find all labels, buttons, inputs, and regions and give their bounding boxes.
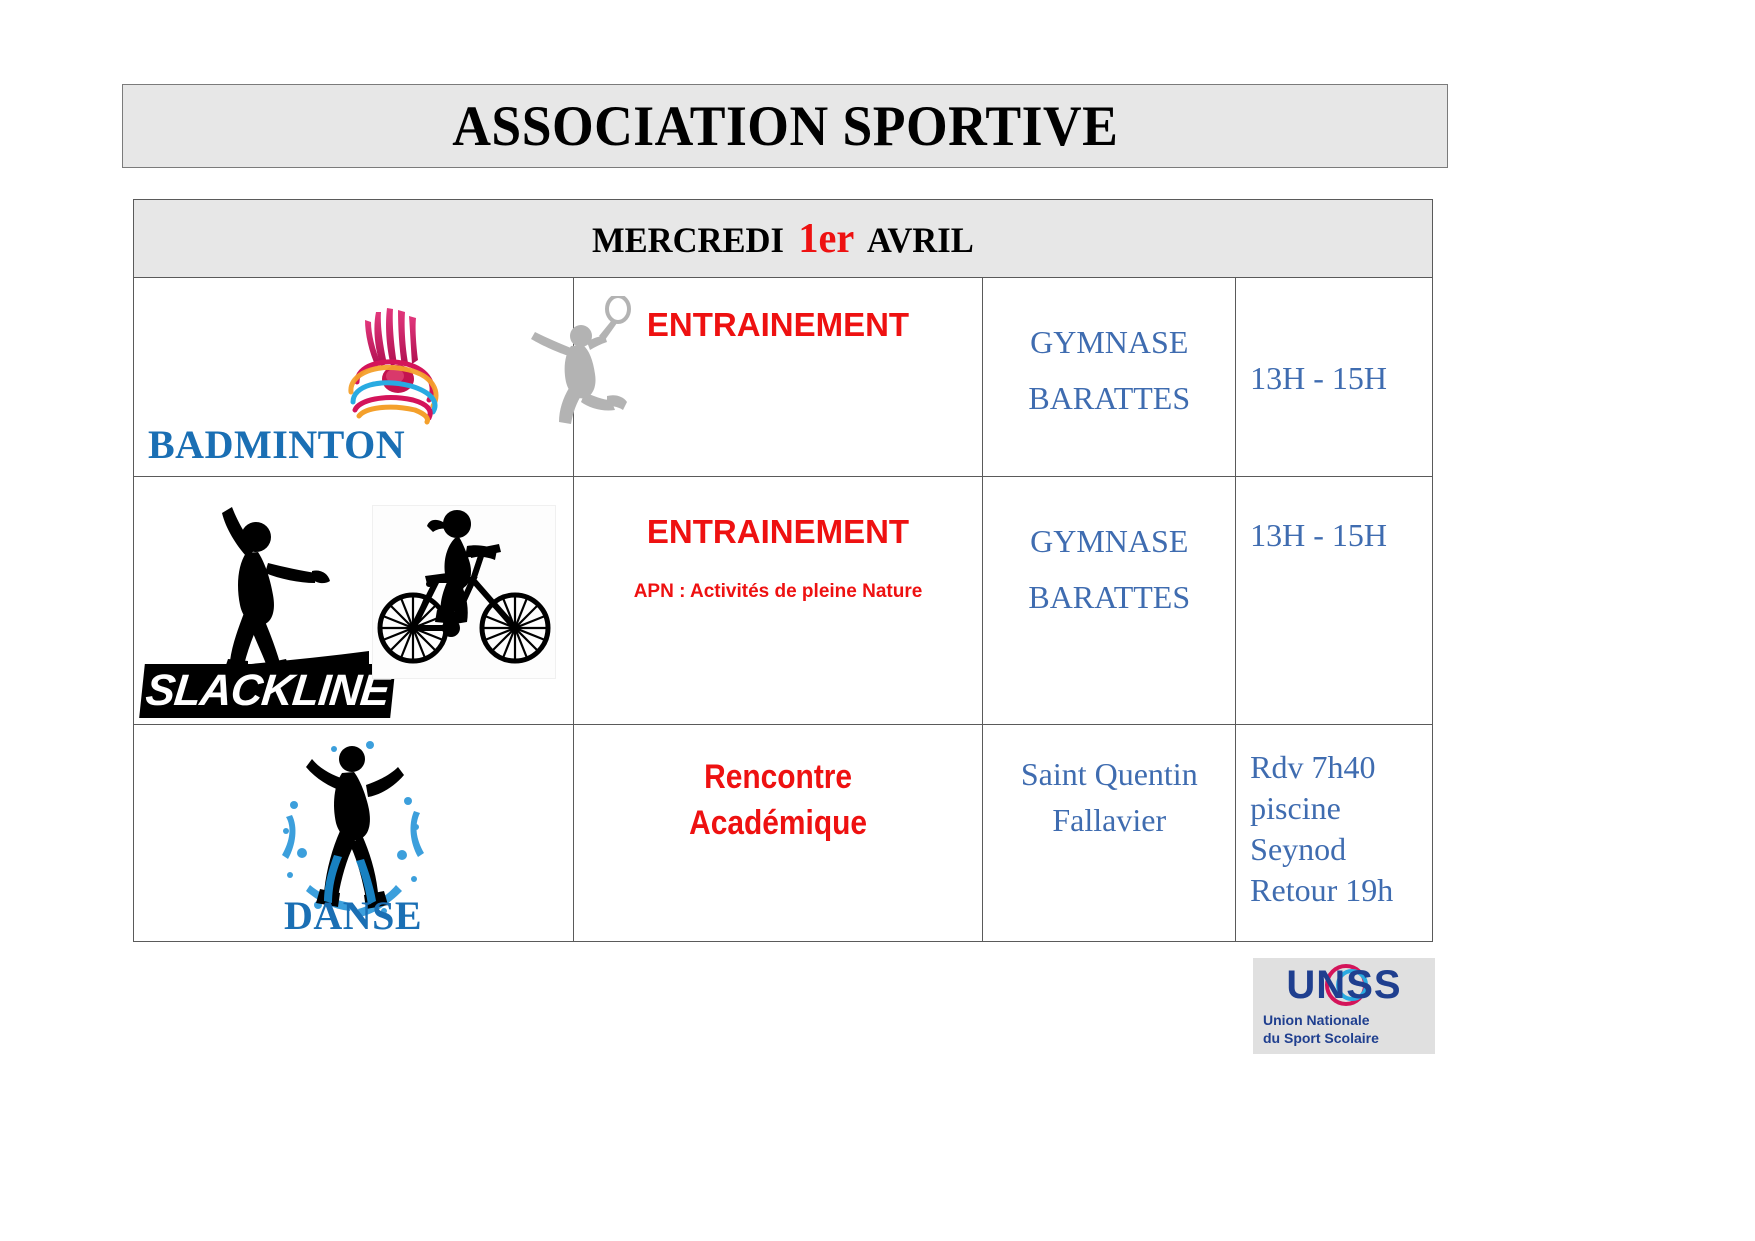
activity-cell-badminton: ENTRAINEMENT (574, 278, 984, 476)
date-day: 1er (793, 216, 860, 262)
sport-label-badminton: BADMINTON (148, 421, 405, 468)
activity-cell-danse: Rencontre Académique (574, 725, 984, 941)
unss-tagline-line-1: Union Nationale (1263, 1012, 1435, 1030)
place-line-1: Saint Quentin (983, 751, 1235, 797)
place-line-1: GYMNASE (983, 314, 1235, 370)
place-line-1: GYMNASE (983, 513, 1235, 569)
time-cell-danse: Rdv 7h40 piscine Seynod Retour 19h (1236, 725, 1432, 941)
time-cell-apn: 13H - 15H (1236, 477, 1432, 724)
place-cell-badminton: GYMNASE BARATTES (983, 278, 1236, 476)
shuttlecock-logo-icon (329, 304, 449, 429)
time-line-3: Seynod (1250, 829, 1432, 870)
activity-title: ENTRAINEMENT (647, 513, 909, 551)
unss-wordmark: UNSS (1253, 958, 1435, 1012)
sport-label-danse: DANSE (284, 892, 422, 939)
unss-tagline: Union Nationale du Sport Scolaire (1253, 1012, 1435, 1047)
place-line-2: BARATTES (983, 569, 1235, 625)
activity-title: Rencontre Académique (689, 755, 867, 847)
activity-title-line-1: Rencontre (689, 755, 867, 801)
time-line-2: piscine (1250, 788, 1432, 829)
time-value: 13H - 15H (1236, 477, 1432, 559)
table-row: BADMINTON ENTRAINEMENT GYMNASE BARATTES … (134, 278, 1432, 477)
mountain-bike-image-frame (372, 505, 556, 679)
page-title: ASSOCIATION SPORTIVE (452, 94, 1118, 159)
place-line-2: BARATTES (983, 370, 1235, 426)
schedule-table: MERCREDI 1er AVRIL (133, 199, 1433, 942)
unss-letters: UNSS (1286, 963, 1401, 1008)
date-header-row: MERCREDI 1er AVRIL (134, 200, 1432, 278)
sport-cell-apn: SLACKLINE (134, 477, 574, 724)
table-row: SLACKLINE (134, 477, 1432, 725)
table-row: DANSE Rencontre Académique Saint Quentin… (134, 725, 1432, 941)
time-value: 13H - 15H (1236, 278, 1432, 402)
time-line-4: Retour 19h (1250, 870, 1432, 911)
unss-logo: UNSS Union Nationale du Sport Scolaire (1253, 958, 1435, 1054)
unss-tagline-line-2: du Sport Scolaire (1263, 1030, 1435, 1048)
activity-title: ENTRAINEMENT (647, 306, 909, 344)
date-weekday: MERCREDI (592, 220, 784, 260)
time-line-1: Rdv 7h40 (1250, 747, 1432, 788)
place-line-2: Fallavier (983, 797, 1235, 843)
slackline-wordmark: SLACKLINE (139, 664, 395, 718)
activity-subtitle: APN : Activités de pleine Nature (634, 581, 923, 603)
date-month: AVRIL (867, 220, 974, 260)
activity-title-line-2: Académique (689, 801, 867, 847)
date-header: MERCREDI 1er AVRIL (592, 215, 974, 263)
mountain-bike-silhouette-icon (373, 506, 555, 678)
time-cell-badminton: 13H - 15H (1236, 278, 1432, 476)
activity-cell-apn: ENTRAINEMENT APN : Activités de pleine N… (574, 477, 984, 724)
place-cell-danse: Saint Quentin Fallavier (983, 725, 1236, 941)
sport-cell-badminton: BADMINTON (134, 278, 574, 476)
sport-cell-danse: DANSE (134, 725, 574, 941)
poster-page: ASSOCIATION SPORTIVE MERCREDI 1er AVRIL (0, 0, 1755, 1241)
page-title-banner: ASSOCIATION SPORTIVE (122, 84, 1448, 168)
place-cell-apn: GYMNASE BARATTES (983, 477, 1236, 724)
